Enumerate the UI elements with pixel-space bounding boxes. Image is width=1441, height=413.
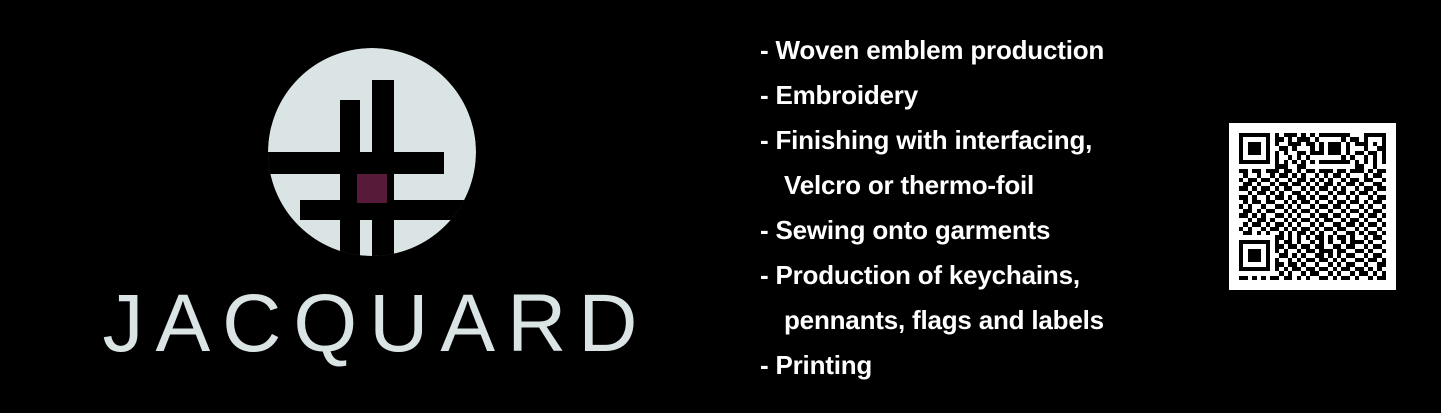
service-line: - Woven emblem production — [760, 28, 1180, 73]
qr-code-matrix — [1239, 133, 1386, 280]
services-list: - Woven emblem production - Embroidery -… — [760, 28, 1180, 388]
service-line: - Production of keychains, — [760, 253, 1180, 298]
service-line: - Embroidery — [760, 73, 1180, 118]
service-line: Velcro or thermo-foil — [760, 163, 1180, 208]
qr-code[interactable] — [1229, 123, 1396, 290]
service-line: - Sewing onto garments — [760, 208, 1180, 253]
service-line: pennants, flags and labels — [760, 298, 1180, 343]
jacquard-banner: JACQUARD - Woven emblem production - Emb… — [0, 0, 1441, 413]
brand-block: JACQUARD — [0, 0, 740, 413]
brand-wordmark: JACQUARD — [0, 278, 740, 370]
service-line: - Printing — [760, 343, 1180, 388]
jacquard-weave-circle-logo-icon — [268, 48, 476, 256]
service-line: - Finishing with interfacing, — [760, 118, 1180, 163]
